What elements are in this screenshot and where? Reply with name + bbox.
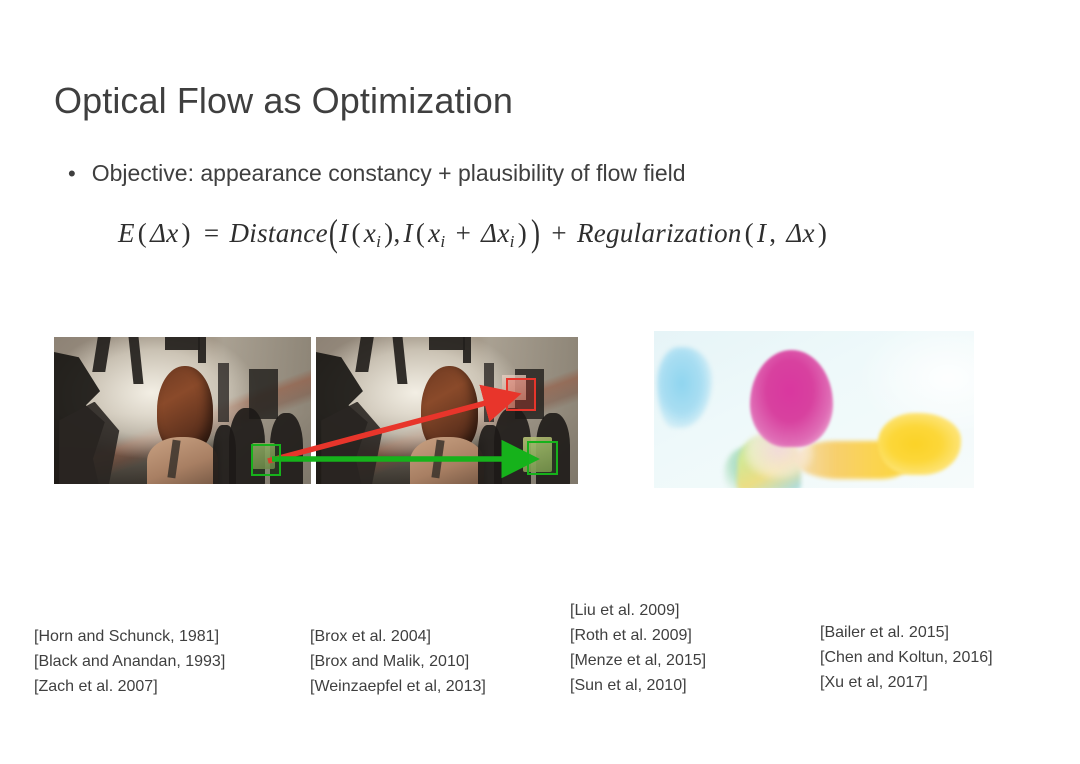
flow-region-neck xyxy=(744,428,814,478)
equation-delta-1: Δ xyxy=(481,218,497,248)
citation-entry: [Liu et al. 2009] xyxy=(570,598,706,623)
character-shoulder xyxy=(147,437,219,484)
flow-region-head xyxy=(750,350,833,447)
citation-entry: [Sun et al, 2010] xyxy=(570,673,706,698)
scene-beam xyxy=(129,337,144,384)
flow-region-hand xyxy=(878,413,961,476)
flow-region-arm xyxy=(795,441,910,479)
character-shoulder xyxy=(410,437,483,484)
incorrect-match-box xyxy=(506,378,536,411)
scene-figure xyxy=(478,425,502,484)
bullet-text: Objective: appearance constancy + plausi… xyxy=(92,160,686,187)
citation-entry: [Brox and Malik, 2010] xyxy=(310,649,486,674)
scene-window xyxy=(484,363,494,422)
citation-entry: [Bailer et al. 2015] xyxy=(820,620,993,645)
character-hair xyxy=(157,366,214,451)
character-strap xyxy=(431,440,444,479)
scene-beam xyxy=(165,337,201,350)
bullet-item: • Objective: appearance constancy + plau… xyxy=(68,160,686,187)
citation-entry: [Weinzaepfel et al, 2013] xyxy=(310,674,486,699)
scene-beam xyxy=(92,337,110,372)
equation-position-4: x xyxy=(803,218,815,248)
citation-entry: [Roth et al. 2009] xyxy=(570,623,706,648)
equation-lhs-arg: Δx xyxy=(150,218,178,248)
citation-column-4: [Bailer et al. 2015] [Chen and Koltun, 2… xyxy=(820,620,993,695)
scene-beam xyxy=(463,337,471,363)
flow-region-torso xyxy=(737,435,801,488)
equation-image-symbol-3: I xyxy=(757,218,766,248)
equation-plus: + xyxy=(548,218,570,248)
scene-foreground-silhouette xyxy=(54,349,157,484)
scene-window xyxy=(218,363,228,422)
flow-region-cyan xyxy=(657,347,711,429)
character-hair xyxy=(421,366,479,451)
scene-figure xyxy=(494,408,531,484)
incorrect-correspondence-arrow xyxy=(268,396,512,461)
equation-position-2: x xyxy=(428,218,440,248)
scene-figure xyxy=(213,425,236,484)
scene-foreground-silhouette xyxy=(59,402,136,484)
citation-column-1: [Horn and Schunck, 1981] [Black and Anan… xyxy=(34,624,225,699)
equation-position-3: x xyxy=(497,218,509,248)
tracked-object-patch xyxy=(252,443,275,469)
citation-entry: [Zach et al. 2007] xyxy=(34,674,225,699)
citation-entry: [Menze et al, 2015] xyxy=(570,648,706,673)
slide-root: Optical Flow as Optimization • Objective… xyxy=(0,0,1080,764)
citation-entry: [Chen and Koltun, 2016] xyxy=(820,645,993,670)
equation-equals: = xyxy=(201,218,223,248)
source-patch-box xyxy=(251,444,281,476)
page-title: Optical Flow as Optimization xyxy=(54,80,513,122)
citation-entry: [Xu et al, 2017] xyxy=(820,670,993,695)
scene-beam xyxy=(429,337,466,350)
equation-lhs-func: E xyxy=(118,218,135,248)
flow-region-shoulder xyxy=(724,447,769,488)
scene-beam xyxy=(198,337,206,363)
scene-window xyxy=(515,369,544,419)
flow-canvas xyxy=(654,331,974,488)
tracked-object-patch xyxy=(523,437,552,472)
scene-figure xyxy=(229,408,265,484)
citation-entry: [Horn and Schunck, 1981] xyxy=(34,624,225,649)
equation-regularization-label: Regularization xyxy=(577,218,742,248)
equation-index-3: i xyxy=(510,232,515,251)
distractor-patch xyxy=(502,375,526,400)
equation-distance-label: Distance xyxy=(229,218,327,248)
frame-2-image xyxy=(316,337,578,484)
scene-foreground-silhouette xyxy=(316,349,421,484)
citation-column-3: [Liu et al. 2009] [Roth et al. 2009] [Me… xyxy=(570,598,706,698)
scene-figure xyxy=(270,413,303,484)
bullet-marker-icon: • xyxy=(68,163,76,185)
optical-flow-visualization xyxy=(654,331,974,488)
scene-foreground-silhouette xyxy=(321,402,400,484)
equation-delta-2: Δ xyxy=(786,218,802,248)
frame-1-image xyxy=(54,337,311,484)
citation-entry: [Black and Anandan, 1993] xyxy=(34,649,225,674)
scene-figure xyxy=(536,413,570,484)
citation-column-2: [Brox et al. 2004] [Brox and Malik, 2010… xyxy=(310,624,486,699)
equation-position-1: x xyxy=(364,218,376,248)
scene-backdrop xyxy=(54,337,311,484)
scene-beam xyxy=(392,337,407,384)
character-strap xyxy=(167,440,180,479)
scene-beam xyxy=(355,337,374,372)
equation-index-2: i xyxy=(440,232,445,251)
energy-equation: E(Δx) = Distance(I(xi),I(xi + Δxi)) + Re… xyxy=(118,218,830,252)
citation-entry: [Brox et al. 2004] xyxy=(310,624,486,649)
scene-backdrop xyxy=(316,337,578,484)
correct-match-box xyxy=(527,441,558,475)
scene-window xyxy=(249,369,277,419)
equation-image-symbol-2: I xyxy=(404,218,413,248)
